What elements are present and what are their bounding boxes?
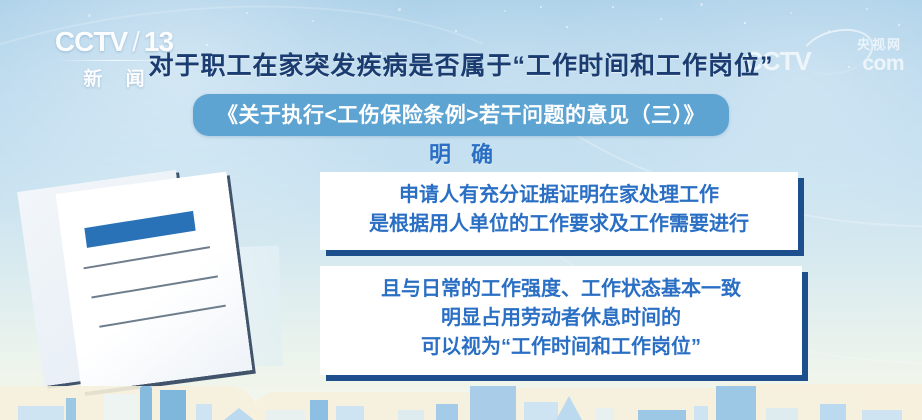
sparkle-dot <box>88 14 91 17</box>
skyline-building <box>160 390 186 420</box>
sparkle-dot <box>455 30 457 32</box>
skyline-building <box>820 404 846 420</box>
statement-card-2: 且与日常的工作强度、工作状态基本一致明显占用劳动者休息时间的可以视为“工作时间和… <box>320 266 802 375</box>
subtitle-row: 《关于执行<工伤保险条例>若干问题的意见（三）》 <box>0 94 922 136</box>
skyline-building <box>398 410 424 420</box>
headline-line-1: 对于职工在家突发疾病是否属于“工作时间和工作岗位” <box>0 46 922 82</box>
sparkle-dot <box>398 8 401 11</box>
doc-highlight-bar <box>84 211 195 248</box>
sparkle-dot <box>660 18 662 20</box>
skyline-building <box>436 404 458 420</box>
city-skyline-decoration <box>0 360 922 420</box>
sparkle-dot <box>866 8 868 10</box>
skyline-building <box>556 396 582 420</box>
sparkle-dot <box>898 24 900 26</box>
skyline-building <box>766 408 798 420</box>
sparkle-dot <box>828 30 830 32</box>
skyline-building <box>862 410 902 420</box>
sparkle-dot <box>246 12 248 14</box>
card-line: 且与日常的工作强度、工作状态基本一致 <box>334 275 788 304</box>
headline-block: 对于职工在家突发疾病是否属于“工作时间和工作岗位” <box>0 46 922 82</box>
doc-text-line <box>91 275 218 298</box>
sparkle-dot <box>504 10 506 12</box>
broadcast-frame: CCTV / 13 新 闻 CCTV 央视网 com 对于职工在家突发疾病是否属… <box>0 0 922 420</box>
sparkle-dot <box>700 3 703 6</box>
card-line: 是根据用人单位的工作要求及工作需要进行 <box>334 210 784 239</box>
skyline-building <box>224 408 254 420</box>
skyline-building <box>140 386 152 420</box>
skyline-building <box>104 394 138 420</box>
card-line: 可以视为“工作时间和工作岗位” <box>334 333 788 362</box>
doc-text-line <box>99 305 226 328</box>
sparkle-dot <box>312 20 314 22</box>
skyline-building <box>266 410 306 420</box>
skyline-building <box>336 406 364 420</box>
sparkle-dot <box>566 26 568 28</box>
sparkle-dot <box>744 22 746 24</box>
skyline-building <box>66 398 76 420</box>
skyline-building <box>470 386 516 420</box>
skyline-building <box>596 408 614 420</box>
sparkle-dot <box>540 6 542 8</box>
skyline-building <box>310 400 328 420</box>
skyline-building <box>18 406 64 420</box>
card-line: 明显占用劳动者休息时间的 <box>334 304 788 333</box>
sparkle-dot <box>612 6 614 8</box>
skyline-building <box>638 410 686 420</box>
skyline-building <box>196 404 212 420</box>
statement-card-1: 申请人有充分证据证明在家处理工作是根据用人单位的工作要求及工作需要进行 <box>320 172 798 250</box>
sparkle-dot <box>790 12 792 14</box>
card-line: 申请人有充分证据证明在家处理工作 <box>334 181 784 210</box>
emphasis-label: 明 确 <box>0 137 922 169</box>
doc-text-line <box>83 246 210 269</box>
skyline-building <box>716 386 756 420</box>
skyline-building <box>694 406 708 420</box>
skyline-building <box>524 402 558 420</box>
regulation-title-pill: 《关于执行<工伤保险条例>若干问题的意见（三）》 <box>193 94 729 136</box>
